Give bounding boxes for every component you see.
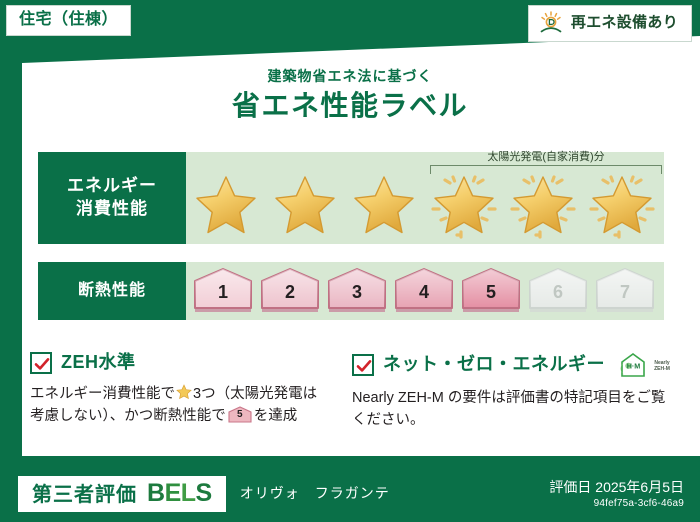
insulation-level-6: 6 bbox=[527, 267, 589, 315]
bels-logo-box: 第三者評価 BELS bbox=[18, 476, 226, 512]
insulation-level-3: 3 bbox=[326, 267, 388, 315]
criterion-net-zero-energy: ネット・ゼロ・エネルギー H·M Nearly ZEH-M Nearly ZEH… bbox=[344, 352, 700, 432]
check-icon bbox=[34, 356, 50, 372]
renewable-equipment-label: 再エネ設備あり bbox=[571, 15, 678, 32]
star-1 bbox=[190, 171, 262, 239]
criteria-section: ZEH水準 エネルギー消費性能で 3つ（太陽光発電は考慮しない）、かつ断熱性能で… bbox=[0, 352, 700, 432]
insulation-level-number: 7 bbox=[594, 283, 656, 301]
bels-wordmark: BELS bbox=[147, 481, 212, 506]
insulation-rating-area: 1234567 bbox=[186, 262, 664, 320]
star-icon bbox=[269, 171, 341, 239]
evaluation-date-value: 2025年6月5日 bbox=[595, 479, 684, 495]
star-6 bbox=[586, 171, 658, 239]
insulation-label: 断熱性能 bbox=[78, 280, 146, 302]
zeh-m-mark-icon: H·M Nearly ZEH-M bbox=[616, 352, 678, 378]
insulation-level-number: 6 bbox=[527, 283, 589, 301]
net-zero-energy-description: Nearly ZEH-M の要件は評価書の特記項目をご覧ください。 bbox=[352, 387, 678, 432]
bels-letter-b: B bbox=[147, 479, 165, 507]
svg-text:H·M: H·M bbox=[627, 361, 641, 370]
insulation-level-number: 4 bbox=[393, 283, 455, 301]
solar-sun-icon bbox=[538, 11, 564, 35]
insulation-level-2: 2 bbox=[259, 267, 321, 315]
insulation-level-7: 7 bbox=[594, 267, 656, 315]
zeh-desc-part3: を達成 bbox=[254, 408, 298, 424]
insulation-performance-label-block: 断熱性能 bbox=[38, 262, 186, 320]
star-icon bbox=[190, 171, 262, 239]
star-5 bbox=[507, 171, 579, 239]
zeh-standard-description: エネルギー消費性能で 3つ（太陽光発電は考慮しない）、かつ断熱性能で 5 を達成 bbox=[30, 383, 318, 428]
insulation-level-1: 1 bbox=[192, 267, 254, 315]
energy-label-line2: 消費性能 bbox=[76, 198, 148, 221]
energy-label-line1: エネルギー bbox=[67, 175, 157, 198]
page-title: 省エネ性能ラベル bbox=[0, 84, 700, 124]
svg-text:ZEH-M: ZEH-M bbox=[654, 366, 670, 372]
star-icon bbox=[586, 171, 658, 239]
inline-house-number: 5 bbox=[228, 410, 252, 420]
insulation-level-4: 4 bbox=[393, 267, 455, 315]
star-2 bbox=[269, 171, 341, 239]
bels-letter-s: S bbox=[196, 479, 212, 507]
star-3 bbox=[348, 171, 420, 239]
label-subtitle: 建築物省エネ法に基づく bbox=[0, 66, 700, 86]
inline-star-icon bbox=[176, 384, 192, 400]
insulation-level-group: 1234567 bbox=[192, 267, 656, 315]
star-rating-group bbox=[190, 170, 658, 240]
criterion-zeh-standard: ZEH水準 エネルギー消費性能で 3つ（太陽光発電は考慮しない）、かつ断熱性能で… bbox=[0, 352, 344, 432]
evaluation-date-label: 評価日 bbox=[549, 479, 591, 495]
solar-annotation-label: 太陽光発電(自家消費)分 bbox=[430, 151, 662, 163]
insulation-performance-row: 断熱性能 1234567 bbox=[38, 262, 664, 320]
insulation-level-5: 5 bbox=[460, 267, 522, 315]
evaluation-info: 評価日 2025年6月5日 94fef75a-3cf6-46a9 bbox=[549, 478, 684, 509]
zeh-standard-checkbox bbox=[30, 352, 52, 374]
insulation-level-number: 5 bbox=[460, 283, 522, 301]
star-icon bbox=[348, 171, 420, 239]
energy-performance-row: エネルギー 消費性能 太陽光発電(自家消費)分 bbox=[38, 152, 664, 244]
criterion-zeh-header: ZEH水準 bbox=[30, 352, 318, 374]
zeh-standard-title: ZEH水準 bbox=[61, 353, 136, 373]
star-4 bbox=[428, 171, 500, 239]
renewable-equipment-badge: 再エネ設備あり bbox=[528, 5, 692, 42]
star-icon bbox=[428, 171, 500, 239]
document-type-chip: 住宅（住棟） bbox=[6, 5, 131, 36]
bels-letter-e: E bbox=[165, 479, 181, 507]
check-icon bbox=[356, 358, 372, 374]
evaluation-date: 評価日 2025年6月5日 bbox=[549, 478, 684, 496]
third-party-evaluation-label: 第三者評価 bbox=[32, 484, 137, 506]
footer-bar: 第三者評価 BELS オリヴォ フラガンテ 評価日 2025年6月5日 94fe… bbox=[0, 466, 700, 522]
criterion-nze-header: ネット・ゼロ・エネルギー H·M Nearly ZEH-M bbox=[352, 352, 678, 378]
insulation-level-number: 3 bbox=[326, 283, 388, 301]
insulation-level-number: 2 bbox=[259, 283, 321, 301]
document-type-label: 住宅（住棟） bbox=[19, 11, 118, 28]
star-icon bbox=[507, 171, 579, 239]
net-zero-energy-title: ネット・ゼロ・エネルギー bbox=[383, 355, 605, 375]
energy-performance-label: 住宅（住棟） 再エネ設備あり 建築物省エネ法に基づく 省エネ性能ラベル bbox=[0, 0, 700, 522]
energy-rating-area: 太陽光発電(自家消費)分 bbox=[186, 152, 664, 244]
net-zero-energy-checkbox bbox=[352, 354, 374, 376]
inline-house-badge: 5 bbox=[228, 406, 252, 423]
building-name: オリヴォ フラガンテ bbox=[240, 486, 390, 501]
bels-letter-l: L bbox=[181, 479, 196, 507]
zeh-desc-part1: エネルギー消費性能で bbox=[30, 386, 175, 402]
energy-performance-label-block: エネルギー 消費性能 bbox=[38, 152, 186, 244]
insulation-level-number: 1 bbox=[192, 283, 254, 301]
evaluation-id: 94fef75a-3cf6-46a9 bbox=[549, 497, 684, 510]
